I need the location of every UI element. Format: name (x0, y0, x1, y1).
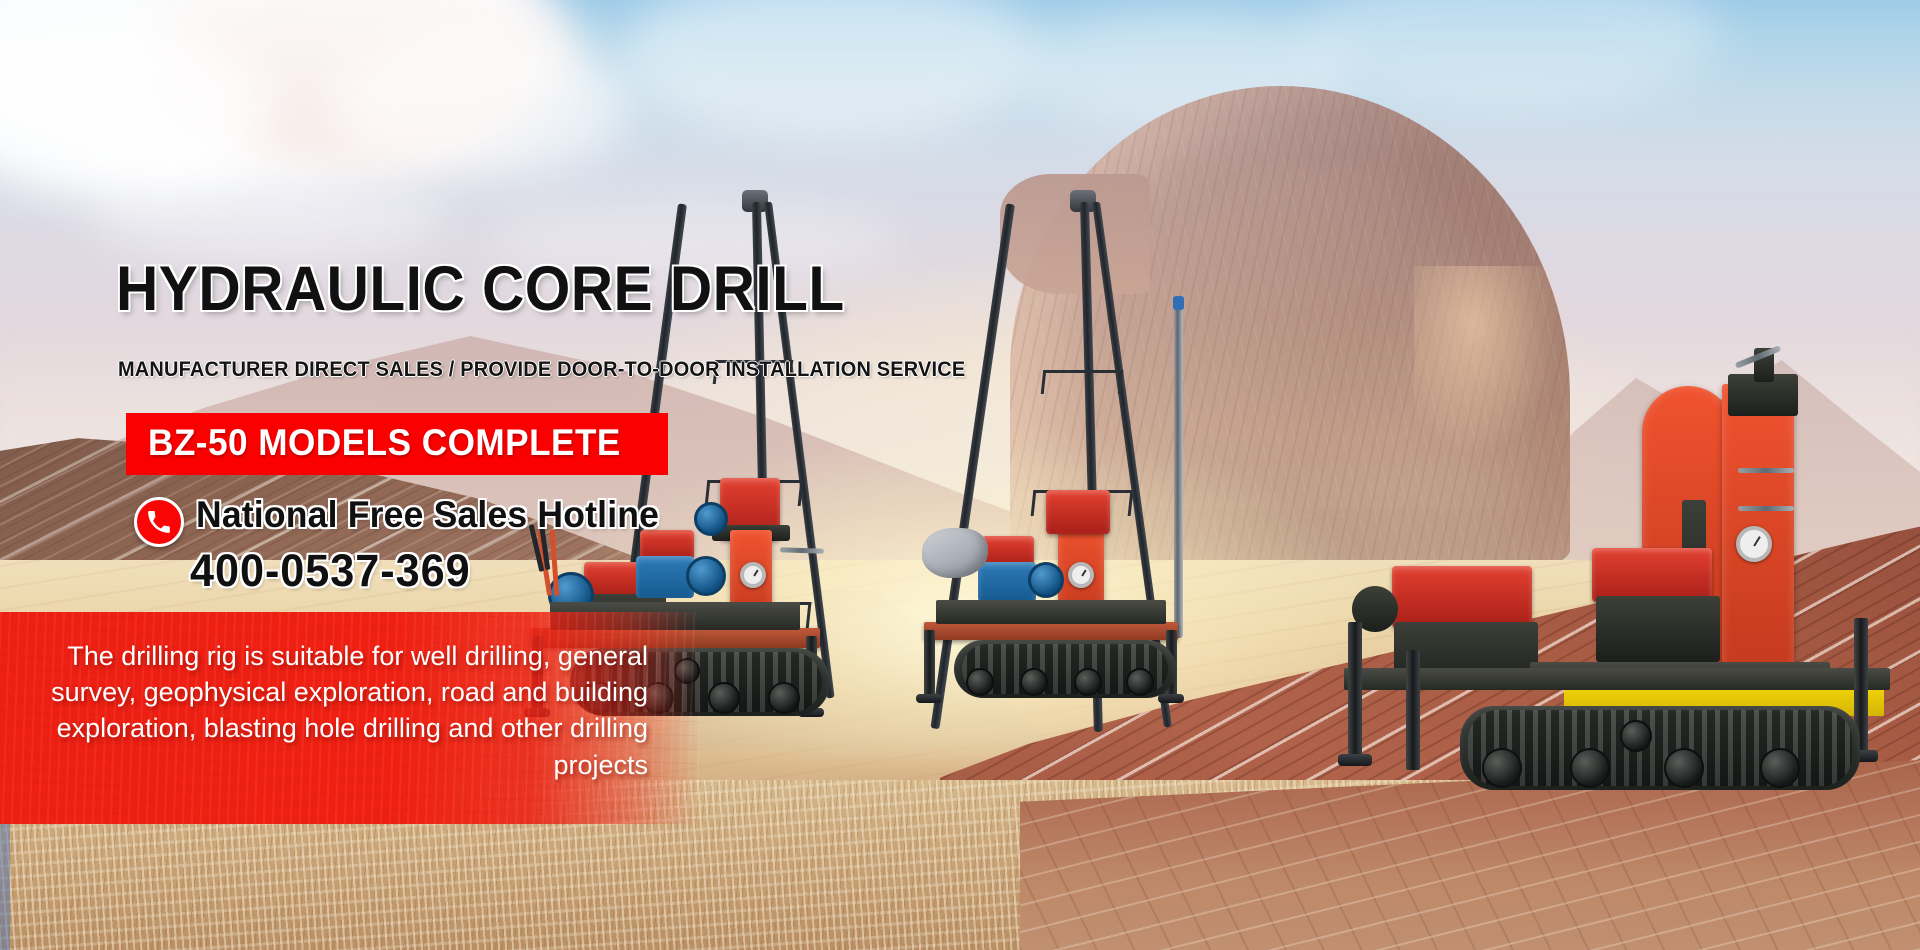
road-wheel (1570, 748, 1610, 788)
diesel-engine-hood-2 (1592, 548, 1712, 602)
outrigger-foot (1338, 754, 1372, 766)
description-text: The drilling rig is suitable for well dr… (0, 638, 648, 783)
model-badge-label: BZ-50 MODELS COMPLETE (148, 422, 621, 464)
hotline-label: National Free Sales Hotline (196, 494, 659, 536)
model-badge: BZ-50 MODELS COMPLETE (126, 413, 668, 475)
road-wheel (1020, 668, 1048, 696)
page-title: HYDRAULIC CORE DRILL (116, 258, 845, 321)
cloud (330, 30, 630, 180)
crawler-track (1460, 706, 1860, 806)
pressure-gauge (740, 562, 766, 588)
road-wheel (1074, 668, 1102, 696)
hero-banner: HYDRAULIC CORE DRILL MANUFACTURER DIRECT… (0, 0, 1920, 950)
cloud (90, 170, 450, 260)
road-wheel (768, 682, 800, 714)
rig-deck (924, 622, 1178, 640)
hydraulic-pipe (780, 547, 824, 554)
page-subtitle: MANUFACTURER DIRECT SALES / PROVIDE DOOR… (118, 358, 965, 382)
drill-rod (1174, 308, 1183, 638)
drill-rod-tip (1173, 296, 1184, 310)
road-wheel (1482, 748, 1522, 788)
engine-flywheel (1028, 562, 1064, 598)
rig-main-beam (1344, 668, 1890, 690)
outrigger-foot (916, 694, 942, 703)
road-wheel (1664, 748, 1704, 788)
diesel-engine-hood-1 (1392, 566, 1532, 628)
phone-icon[interactable] (134, 497, 184, 547)
hydraulic-pipe (1738, 506, 1794, 511)
crawler-track (954, 640, 1176, 712)
description-panel: The drilling rig is suitable for well dr… (0, 612, 700, 824)
drill-head-red (1046, 490, 1110, 534)
rig-subframe (936, 600, 1166, 624)
idler-wheel (1620, 720, 1652, 752)
cloud (1300, 0, 1720, 110)
outrigger-jack (1348, 622, 1362, 756)
road-wheel (966, 668, 994, 696)
diesel-engine-block-2 (1596, 596, 1720, 662)
second-engine-flywheel (686, 556, 726, 596)
track-belt (1460, 706, 1860, 790)
crawler-core-drill-center (1040, 190, 1340, 890)
flywheel (694, 502, 728, 536)
pressure-gauge (1736, 526, 1772, 562)
cloud (620, 0, 1040, 140)
road-wheel (1760, 748, 1800, 788)
pressure-gauge (1068, 562, 1094, 588)
mast-brace (1041, 370, 1124, 394)
outrigger-jack (1406, 650, 1420, 770)
crawler-core-drill-right (1330, 350, 1920, 810)
hydraulic-pipe (1738, 468, 1794, 473)
road-wheel (708, 682, 740, 714)
road-wheel (1126, 668, 1154, 696)
hotline-number[interactable]: 400-0537-369 (190, 545, 471, 597)
outrigger-jack (924, 630, 935, 696)
